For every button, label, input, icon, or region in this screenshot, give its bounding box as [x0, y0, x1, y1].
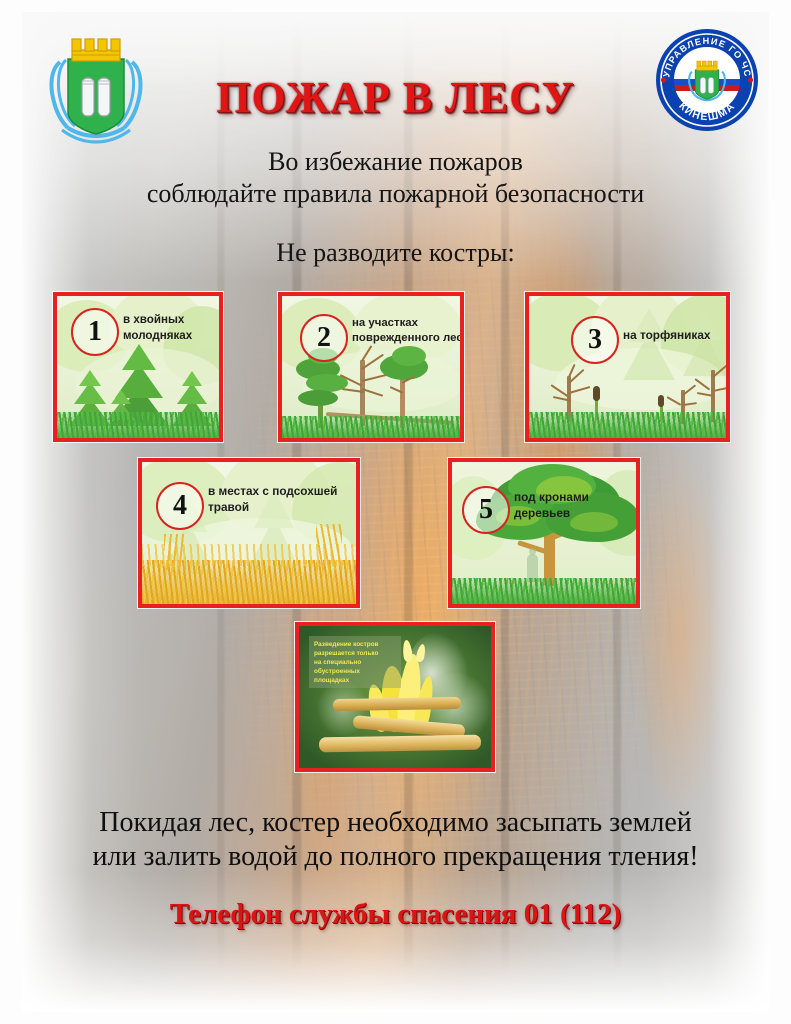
card-3-illustration: [529, 296, 726, 438]
card-1-number-badge: 1: [71, 308, 119, 356]
emergency-phone-text: Телефон службы спасения 01 (112): [0, 898, 791, 931]
card-5-caption-line-2: деревьев: [514, 506, 634, 522]
card-2-number-badge: 2: [300, 314, 348, 362]
outro-line-2: или залить водой до полного прекращения …: [0, 840, 791, 874]
card-1-caption-line-1: в хвойных: [123, 312, 223, 328]
outro-block: Покидая лес, костер необходимо засыпать …: [0, 806, 791, 874]
subtitle-line-1: Во избежание пожаров: [0, 146, 791, 178]
campfire-illustration: Разведение костров разрешается только на…: [299, 626, 491, 768]
rule-card-5: 5 под кронами деревьев: [448, 458, 640, 608]
card-1-caption: в хвойных молодняках: [123, 312, 223, 343]
card-2-caption: на участках поврежденного леса: [352, 316, 464, 347]
card-4-caption: в местах с подсохшей травой: [208, 484, 360, 516]
lead-text: Не разводите костры:: [0, 238, 791, 268]
poster-root: УПРАВЛЕНИЕ ГО ЧС КИНЕШМА ПОЖАР В ЛЕСУ Во…: [0, 0, 791, 1024]
campfire-note-line-5: площадках: [314, 676, 396, 685]
campfire-note-line-1: Разведение костров: [314, 640, 396, 649]
card-1-caption-line-2: молодняках: [123, 328, 223, 344]
outro-line-1: Покидая лес, костер необходимо засыпать …: [0, 806, 791, 840]
rule-card-4: 4 в местах с подсохшей травой: [138, 458, 360, 608]
poster-header: УПРАВЛЕНИЕ ГО ЧС КИНЕШМА ПОЖАР В ЛЕСУ: [0, 0, 791, 150]
campfire-card: Разведение костров разрешается только на…: [295, 622, 495, 772]
rule-card-1: 1 в хвойных молодняках: [53, 292, 223, 442]
card-4-caption-line-1: в местах с подсохшей: [208, 484, 360, 500]
card-4-caption-line-2: травой: [208, 500, 360, 516]
campfire-note-line-4: обустроенных: [314, 667, 396, 676]
campfire-note-panel: Разведение костров разрешается только на…: [309, 636, 401, 688]
card-3-caption-line-1: на торфяниках: [623, 328, 730, 344]
rule-card-2: 2 на участках поврежденного леса: [278, 292, 464, 442]
card-2-caption-line-2: поврежденного леса: [352, 331, 464, 346]
card-5-number-badge: 5: [462, 486, 510, 534]
card-4-number-badge: 4: [156, 482, 204, 530]
rule-card-3: 3 на торфяниках: [525, 292, 730, 442]
card-5-caption: под кронами деревьев: [514, 490, 634, 522]
card-2-caption-line-1: на участках: [352, 316, 464, 331]
campfire-note-line-2: разрешается только: [314, 649, 396, 658]
card-3-number-badge: 3: [571, 316, 619, 364]
subtitle-block: Во избежание пожаров соблюдайте правила …: [0, 146, 791, 210]
campfire-note-line-3: на специально: [314, 658, 396, 667]
page-title: ПОЖАР В ЛЕСУ: [0, 72, 791, 123]
subtitle-line-2: соблюдайте правила пожарной безопасности: [0, 178, 791, 210]
card-3-caption: на торфяниках: [623, 328, 730, 344]
card-5-caption-line-1: под кронами: [514, 490, 634, 506]
